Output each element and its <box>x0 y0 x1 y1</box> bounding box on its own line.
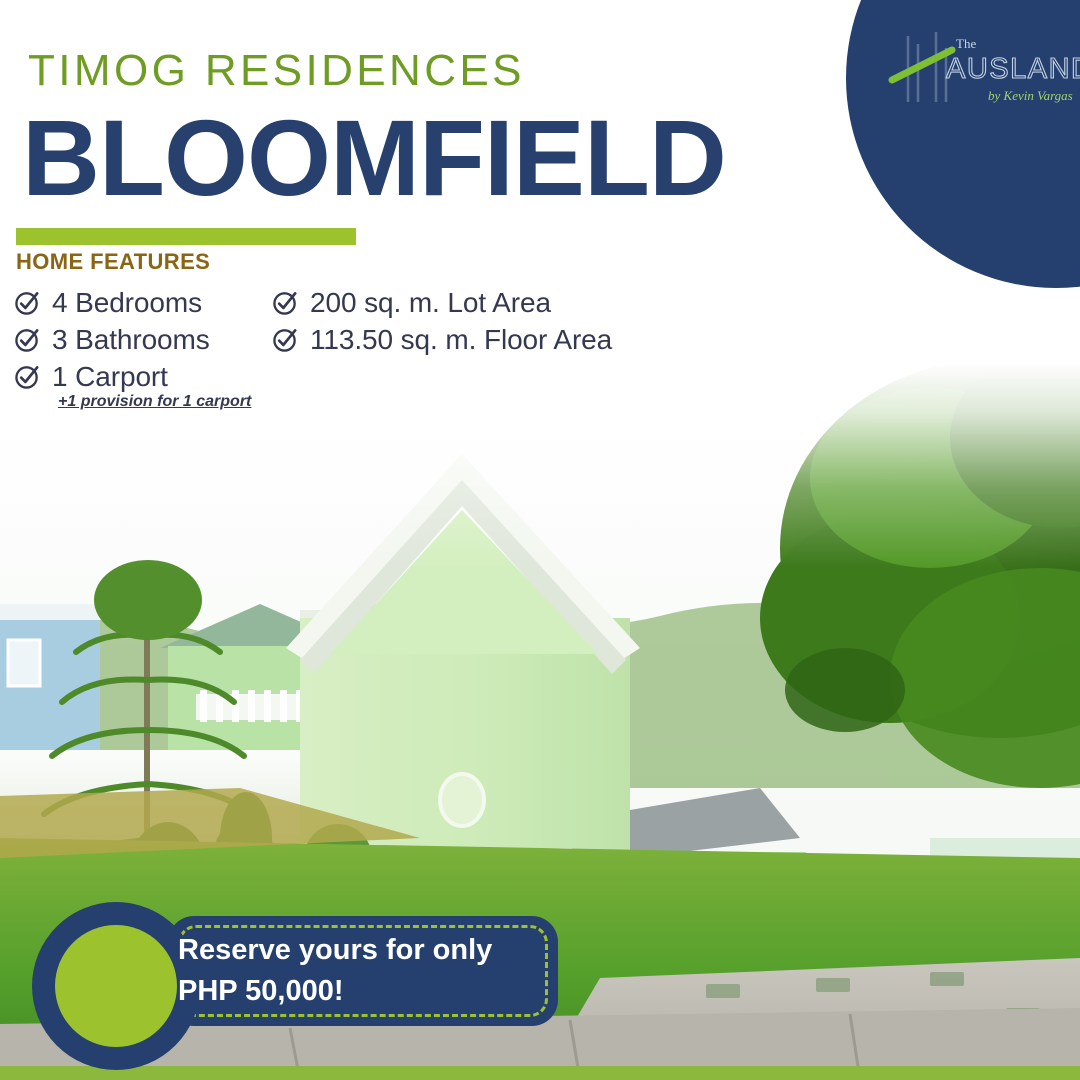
feature-label: 4 Bedrooms <box>52 287 202 319</box>
poster-canvas: The AUSLANDS by Kevin Vargas TIMOG RESID… <box>0 0 1080 1080</box>
title-underline-bar <box>16 228 356 245</box>
check-circle-icon <box>14 363 41 390</box>
feature-label: 1 Carport <box>52 361 168 393</box>
cta-line-2: PHP 50,000! <box>178 971 558 1012</box>
check-circle-icon <box>14 289 41 316</box>
page-title: BLOOMFIELD <box>22 104 726 212</box>
hauslands-logo[interactable]: The AUSLANDS by Kevin Vargas <box>884 18 1080 114</box>
feature-label: 200 sq. m. Lot Area <box>310 287 551 319</box>
list-item: 113.50 sq. m. Floor Area <box>272 321 612 358</box>
logo-the: The <box>956 36 976 51</box>
features-list-left: 4 Bedrooms 3 Bathrooms 1 Carport +1 prov… <box>14 284 251 411</box>
carport-provision-note: +1 provision for 1 carport <box>58 393 251 411</box>
h-monogram-logo: The AUSLANDS by Kevin Vargas <box>884 18 1080 114</box>
check-circle-icon <box>272 289 299 316</box>
bottom-grass-strip <box>0 1066 1080 1080</box>
check-circle-icon <box>14 326 41 353</box>
logo-byline: by Kevin Vargas <box>988 88 1073 103</box>
list-item: 3 Bathrooms <box>14 321 251 358</box>
cta-lime-dot <box>55 925 177 1047</box>
features-list-right: 200 sq. m. Lot Area 113.50 sq. m. Floor … <box>272 284 612 358</box>
list-item: 1 Carport <box>14 358 251 395</box>
eyebrow-subtitle: TIMOG RESIDENCES <box>28 46 525 96</box>
feature-label: 113.50 sq. m. Floor Area <box>310 324 612 356</box>
cta-text-block: Reserve yours for only PHP 50,000! <box>178 930 558 1012</box>
cta-line-1: Reserve yours for only <box>178 930 558 971</box>
list-item: 4 Bedrooms <box>14 284 251 321</box>
feature-label: 3 Bathrooms <box>52 324 210 356</box>
check-circle-icon <box>272 326 299 353</box>
home-features-heading: HOME FEATURES <box>16 249 210 275</box>
logo-wordmark: AUSLANDS <box>946 53 1080 85</box>
list-item: 200 sq. m. Lot Area <box>272 284 612 321</box>
